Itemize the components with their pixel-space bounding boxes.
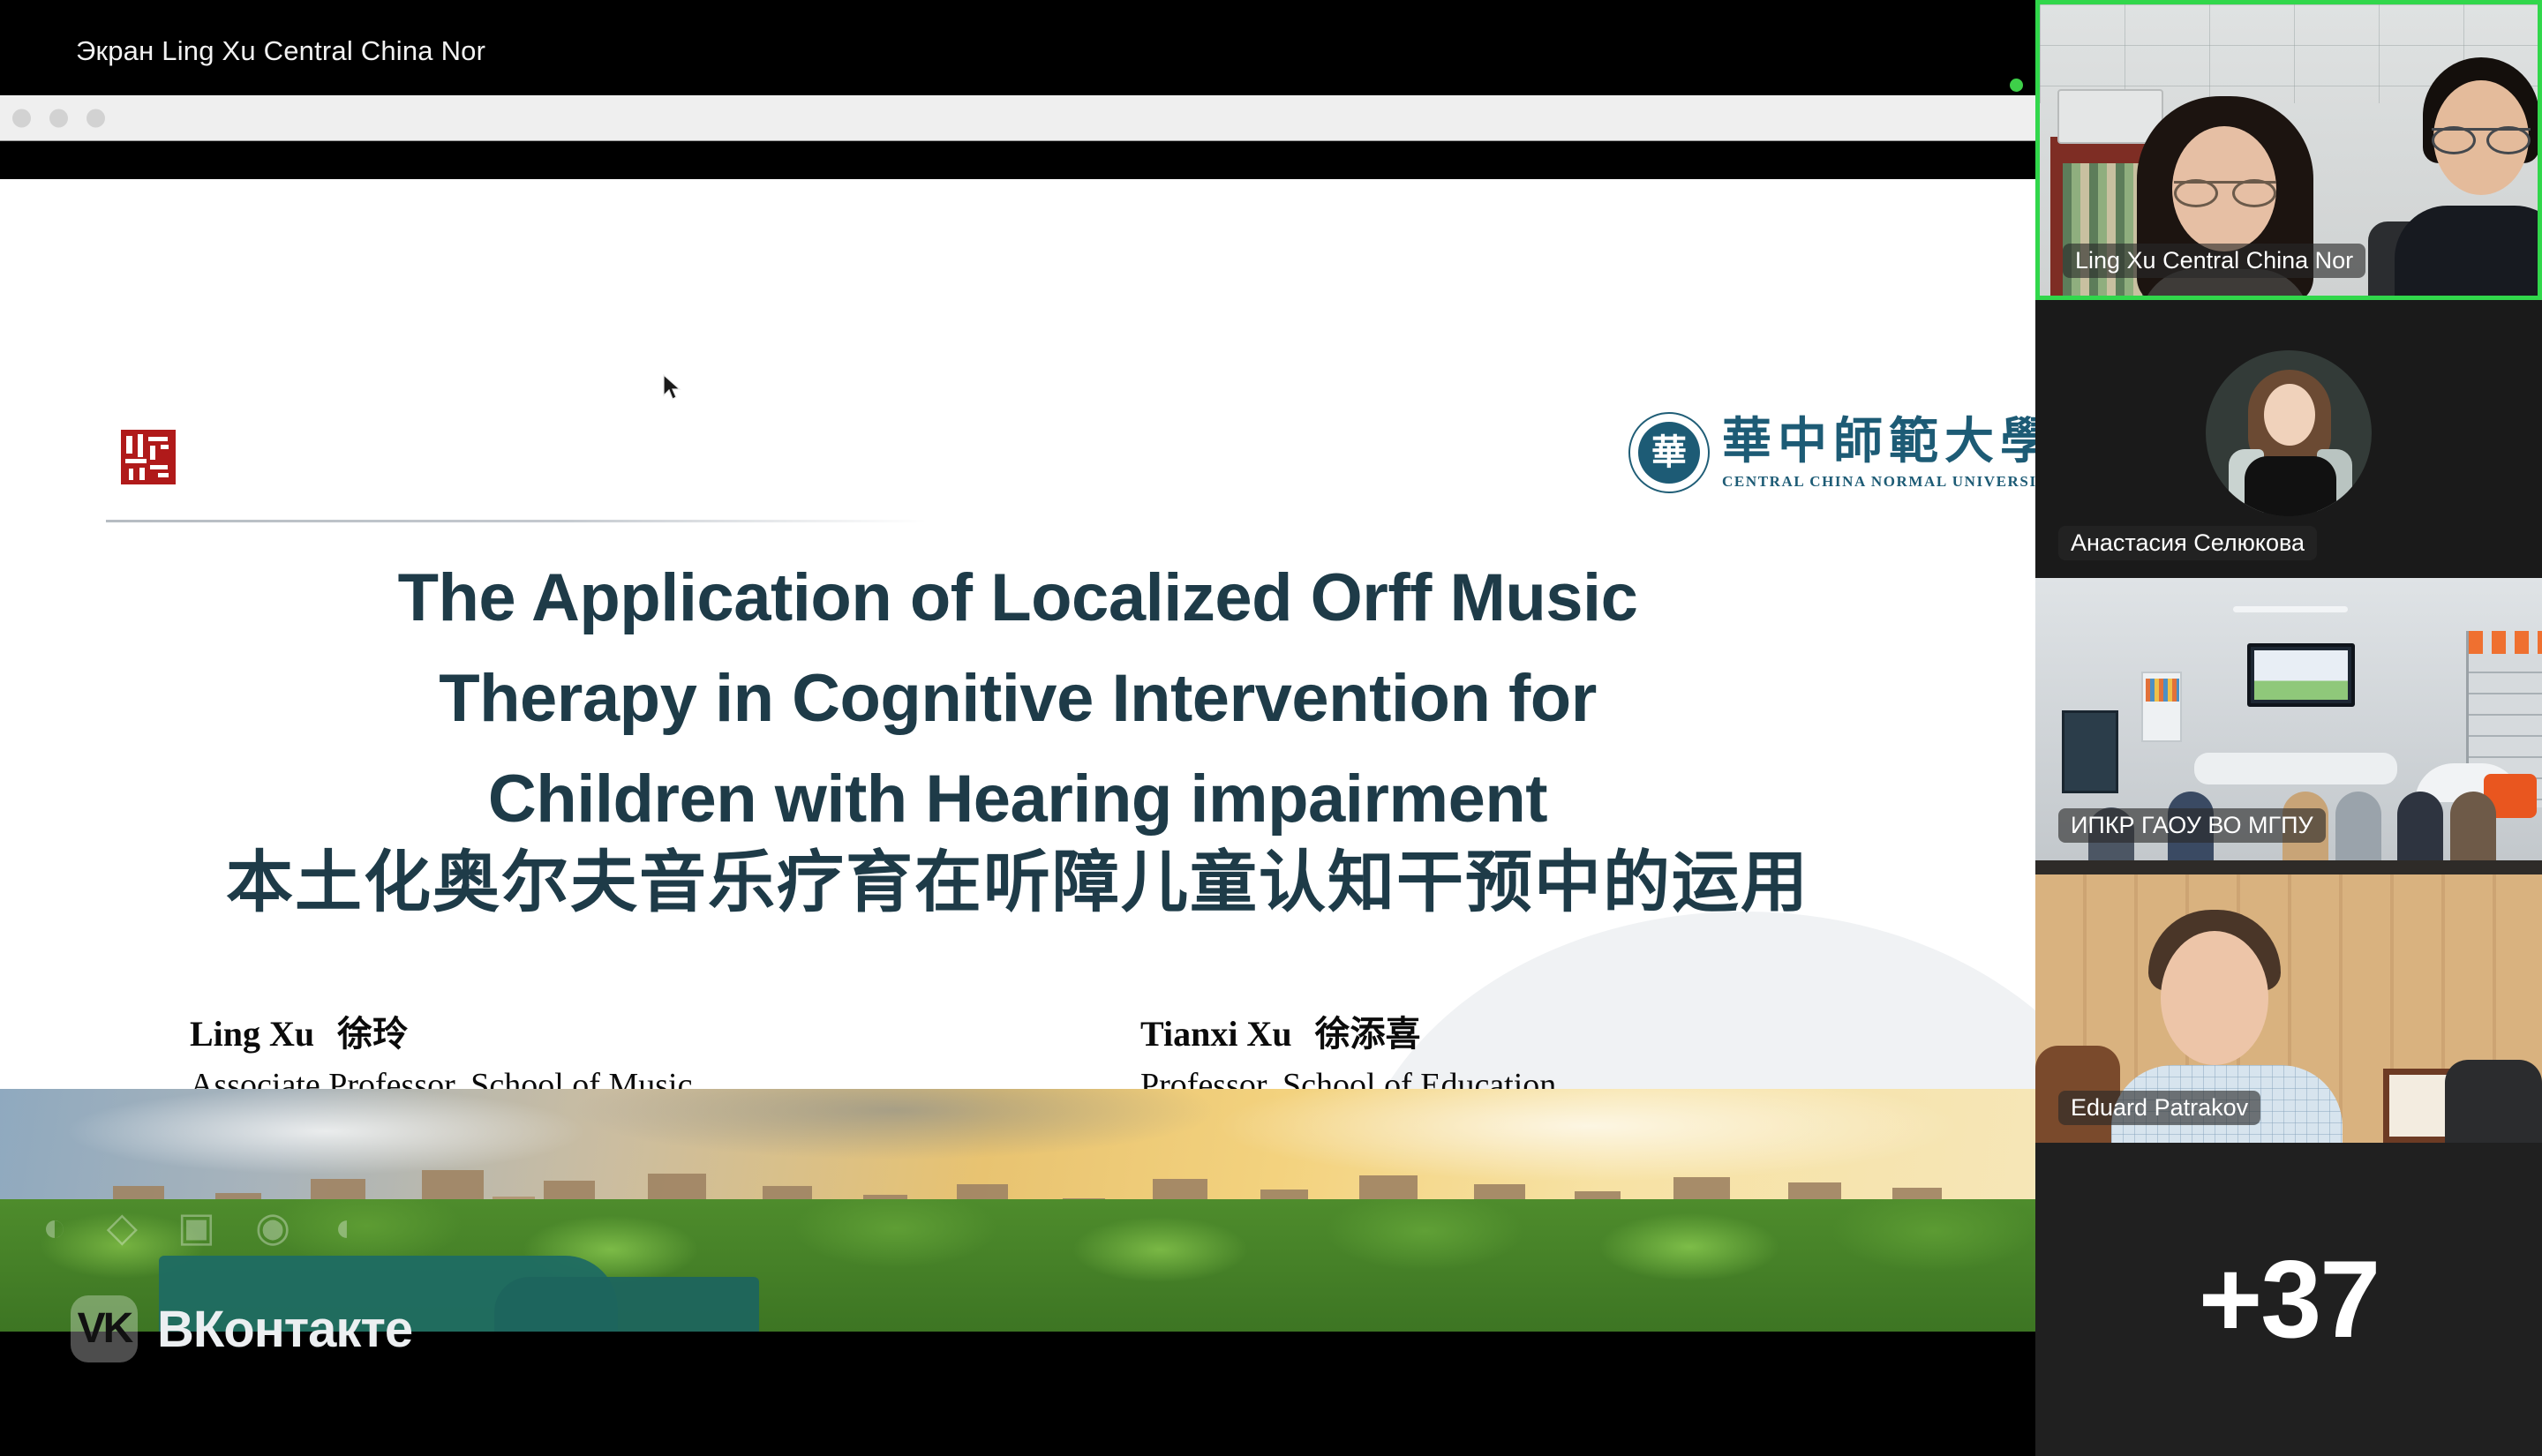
chrome-gap — [0, 141, 2035, 179]
participant-rail[interactable]: Ling Xu Central China Nor Анастасия Селю… — [2035, 0, 2542, 1456]
screen-share-active-icon — [2010, 79, 2023, 92]
campus-building-roof — [494, 1277, 759, 1332]
chinese-seal-stamp-icon — [121, 430, 176, 484]
overflow-count-label: +37 — [2199, 1237, 2379, 1362]
author-name-cn: 徐玲 — [337, 1014, 408, 1054]
room-display-screen — [2247, 643, 2355, 707]
participant-name-label: Eduard Patrakov — [2058, 1091, 2260, 1125]
participant-name-label: Анастасия Селюкова — [2058, 526, 2317, 560]
meeting-screen: Экран Ling Xu Central China Nor — [0, 0, 2542, 1456]
participant-tile-eduard-patrakov[interactable]: Eduard Patrakov — [2035, 860, 2542, 1143]
close-window-icon[interactable] — [12, 109, 31, 127]
participant-tile-ipkr-mgpu[interactable]: ИПКР ГАОУ ВО МГПУ — [2035, 578, 2542, 860]
window-traffic-lights[interactable] — [12, 109, 105, 127]
author-name-en: Tianxi Xu — [1140, 1014, 1292, 1054]
shared-screen-area: Экран Ling Xu Central China Nor — [0, 0, 2035, 1456]
author-name-cn: 徐添喜 — [1315, 1014, 1421, 1054]
avatar — [2206, 350, 2372, 516]
university-name-cn: 華中師範大學 — [1722, 416, 2035, 469]
participant-tile-anastasia[interactable]: Анастасия Селюкова — [2035, 300, 2542, 578]
participant-name-label: Ling Xu Central China Nor — [2063, 244, 2365, 278]
ccnu-crest-icon: 華 — [1628, 412, 1710, 493]
photo-overlay-glyphs: ◐ ◇ ▣ ◉ ◖ — [42, 1203, 369, 1250]
header-divider — [106, 520, 927, 522]
participant-tile-ling-xu[interactable]: Ling Xu Central China Nor — [2035, 0, 2542, 300]
shared-screen-title-bar: Экран Ling Xu Central China Nor — [0, 0, 2035, 95]
minimize-window-icon[interactable] — [49, 109, 68, 127]
shared-screen-title: Экран Ling Xu Central China Nor — [76, 35, 485, 67]
zoom-window-icon[interactable] — [86, 109, 105, 127]
slide-title-line-2: Therapy in Cognitive Intervention for — [115, 649, 1921, 749]
participant-overflow-tile[interactable]: +37 — [2035, 1143, 2542, 1456]
browser-chrome-bar — [0, 95, 2035, 141]
presentation-slide: 華 華中師範大學 CENTRAL CHINA NORMAL UNIVERSITY… — [0, 179, 2035, 1332]
slide-title-line-3: Children with Hearing impairment — [115, 749, 1921, 850]
slide-title-line-1: The Application of Localized Orff Music — [115, 548, 1921, 649]
participant-video-person — [2410, 57, 2542, 300]
vk-watermark-label: ВКонтакте — [157, 1300, 412, 1359]
slide-title-en: The Application of Localized Orff Music … — [115, 548, 1921, 850]
vk-logo-icon: VK — [71, 1295, 138, 1362]
author-name-en: Ling Xu — [190, 1014, 314, 1054]
participant-name-label: ИПКР ГАОУ ВО МГПУ — [2058, 808, 2326, 843]
university-name-en: CENTRAL CHINA NORMAL UNIVERSITY — [1722, 473, 2035, 491]
vk-watermark: VK ВКонтакте — [71, 1295, 412, 1362]
university-logo: 華 華中師範大學 CENTRAL CHINA NORMAL UNIVERSITY — [1628, 407, 2017, 499]
vk-logo-glyph: VK — [78, 1308, 132, 1350]
slide-title-cn: 本土化奥尔夫音乐疗育在听障儿童认知干预中的运用 — [115, 839, 1921, 927]
